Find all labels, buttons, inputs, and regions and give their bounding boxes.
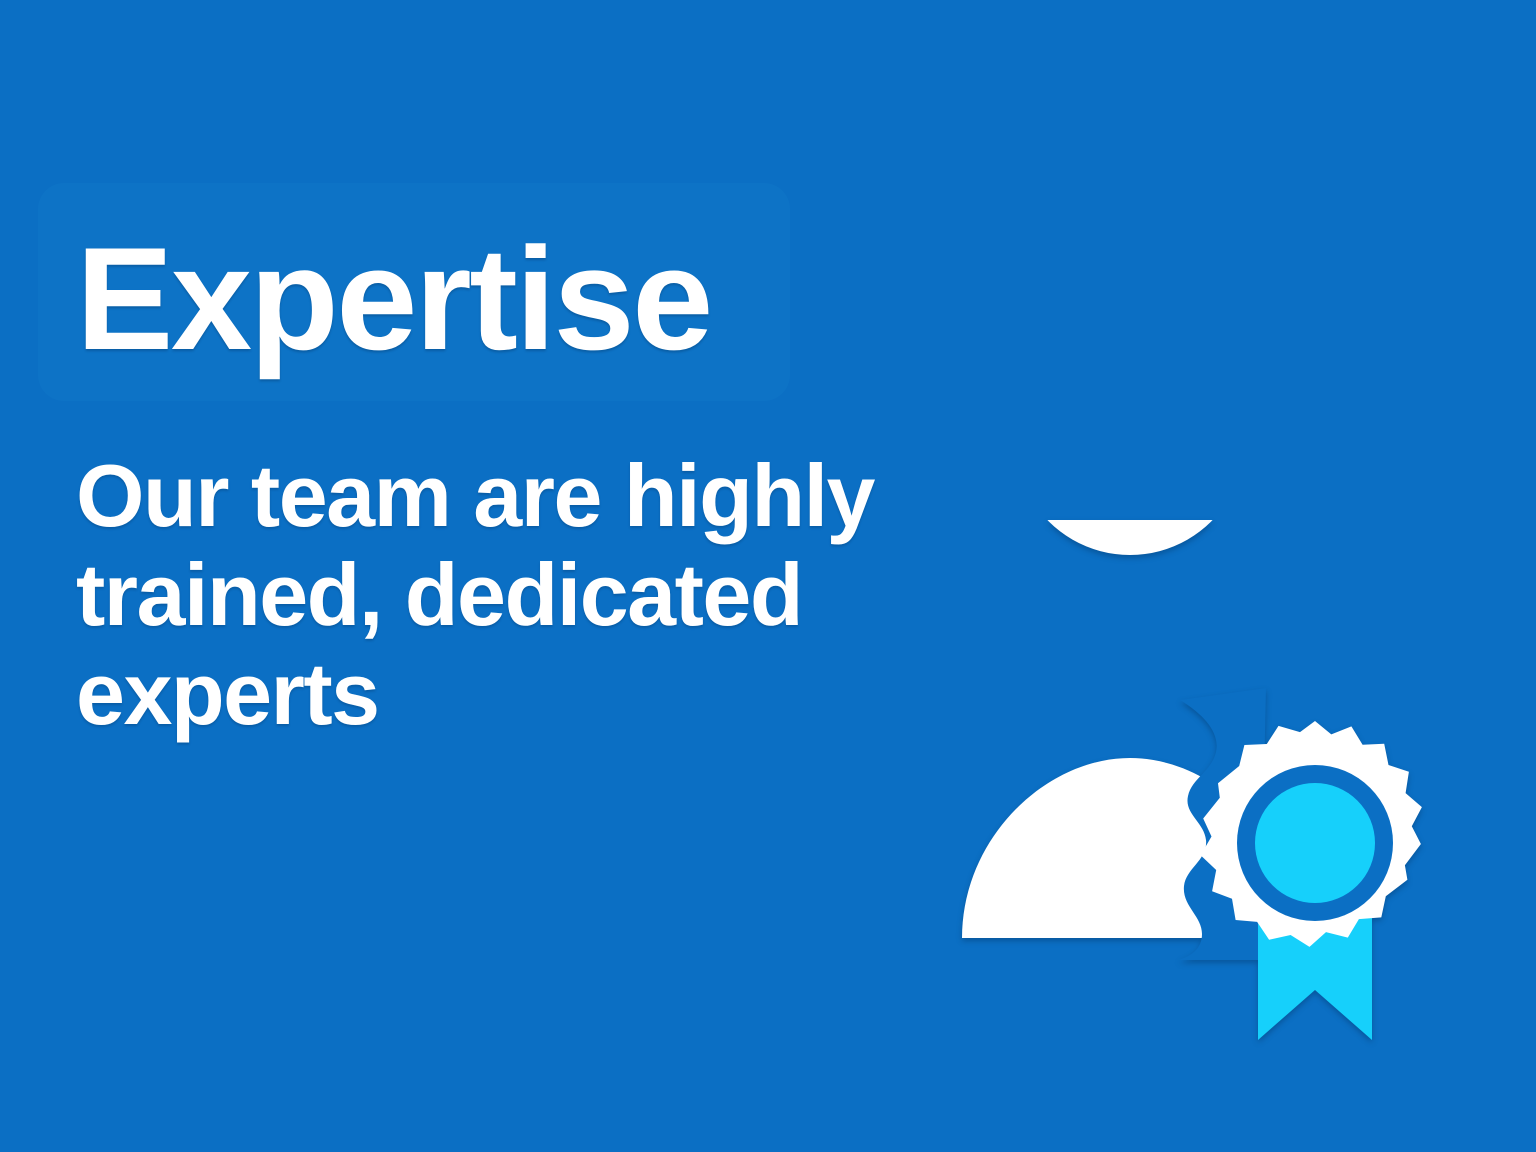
person-head — [1015, 520, 1245, 555]
expert-person-award-icon — [930, 520, 1460, 1060]
expertise-slide: Expertise Our team are highly trained, d… — [0, 0, 1536, 1152]
page-title: Expertise — [76, 226, 711, 372]
award-medal-center — [1255, 783, 1375, 903]
page-subtitle: Our team are highly trained, dedicated e… — [76, 446, 956, 743]
